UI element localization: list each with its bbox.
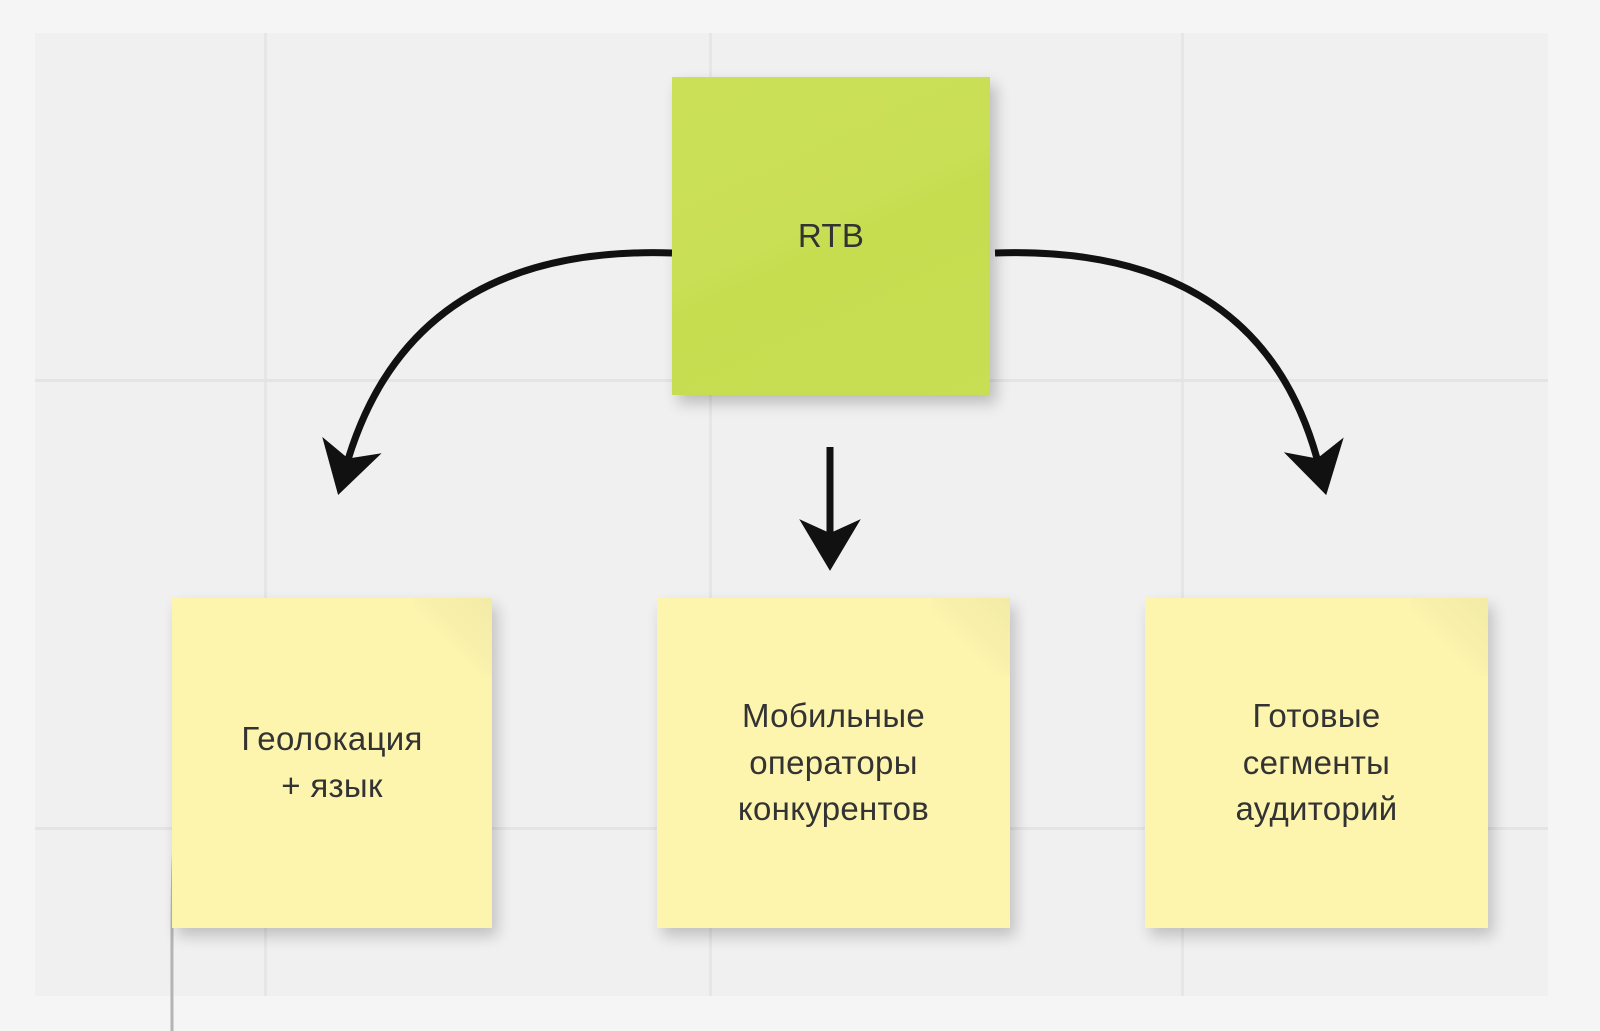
sticky-note-rtb[interactable]: RTB <box>672 77 990 395</box>
sticky-note-mobile-operators-line-2: операторы <box>749 744 917 781</box>
diagram-canvas[interactable]: RTB Геолокация + язык Мобильные оператор… <box>0 0 1600 1031</box>
sticky-note-mobile-operators-line-1: Мобильные <box>742 697 925 734</box>
sticky-note-geolocation-line-2: + язык <box>281 767 382 804</box>
sticky-note-audience-segments-line-1: Готовые <box>1252 697 1380 734</box>
sticky-note-geolocation[interactable]: Геолокация + язык <box>172 598 492 928</box>
sticky-note-audience-segments[interactable]: Готовые сегменты аудиторий <box>1145 598 1488 928</box>
sticky-note-mobile-operators-label: Мобильные операторы конкурентов <box>657 693 1010 834</box>
sticky-note-audience-segments-line-3: аудиторий <box>1235 790 1397 827</box>
sticky-note-audience-segments-line-2: сегменты <box>1243 744 1390 781</box>
sticky-note-geolocation-label: Геолокация + язык <box>172 716 492 810</box>
sticky-note-audience-segments-label: Готовые сегменты аудиторий <box>1145 693 1488 834</box>
sticky-note-mobile-operators-line-3: конкурентов <box>738 790 929 827</box>
sticky-note-rtb-label: RTB <box>672 217 990 255</box>
sticky-note-mobile-operators[interactable]: Мобильные операторы конкурентов <box>657 598 1010 928</box>
sticky-note-geolocation-line-1: Геолокация <box>241 720 422 757</box>
